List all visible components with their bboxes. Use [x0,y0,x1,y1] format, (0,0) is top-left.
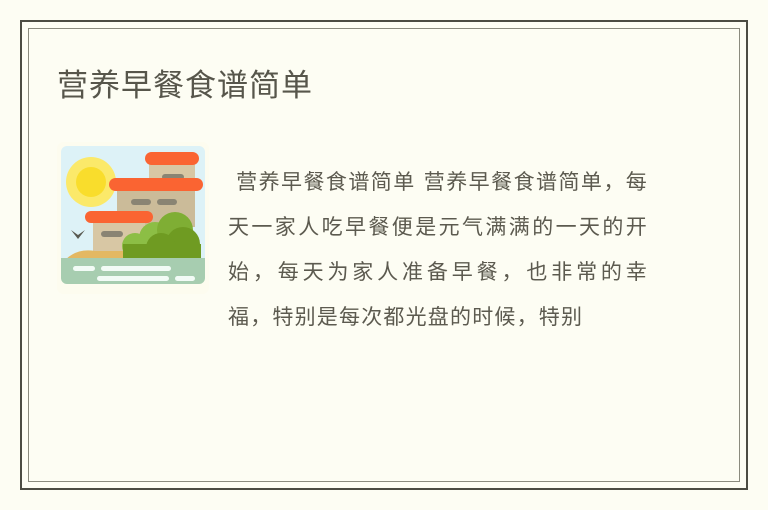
page-title: 营养早餐食谱简单 [57,66,313,106]
illustration-thumbnail [57,142,209,294]
article-card: 营养早餐食谱简单 [0,0,768,510]
article-body-text: 营养早餐食谱简单 营养早餐食谱简单，每天一家人吃早餐便是元气满满的一天的开始，每… [228,160,648,340]
landscape-illustration-icon [57,142,209,294]
card-content: 营养早餐食谱简单 [0,0,768,510]
